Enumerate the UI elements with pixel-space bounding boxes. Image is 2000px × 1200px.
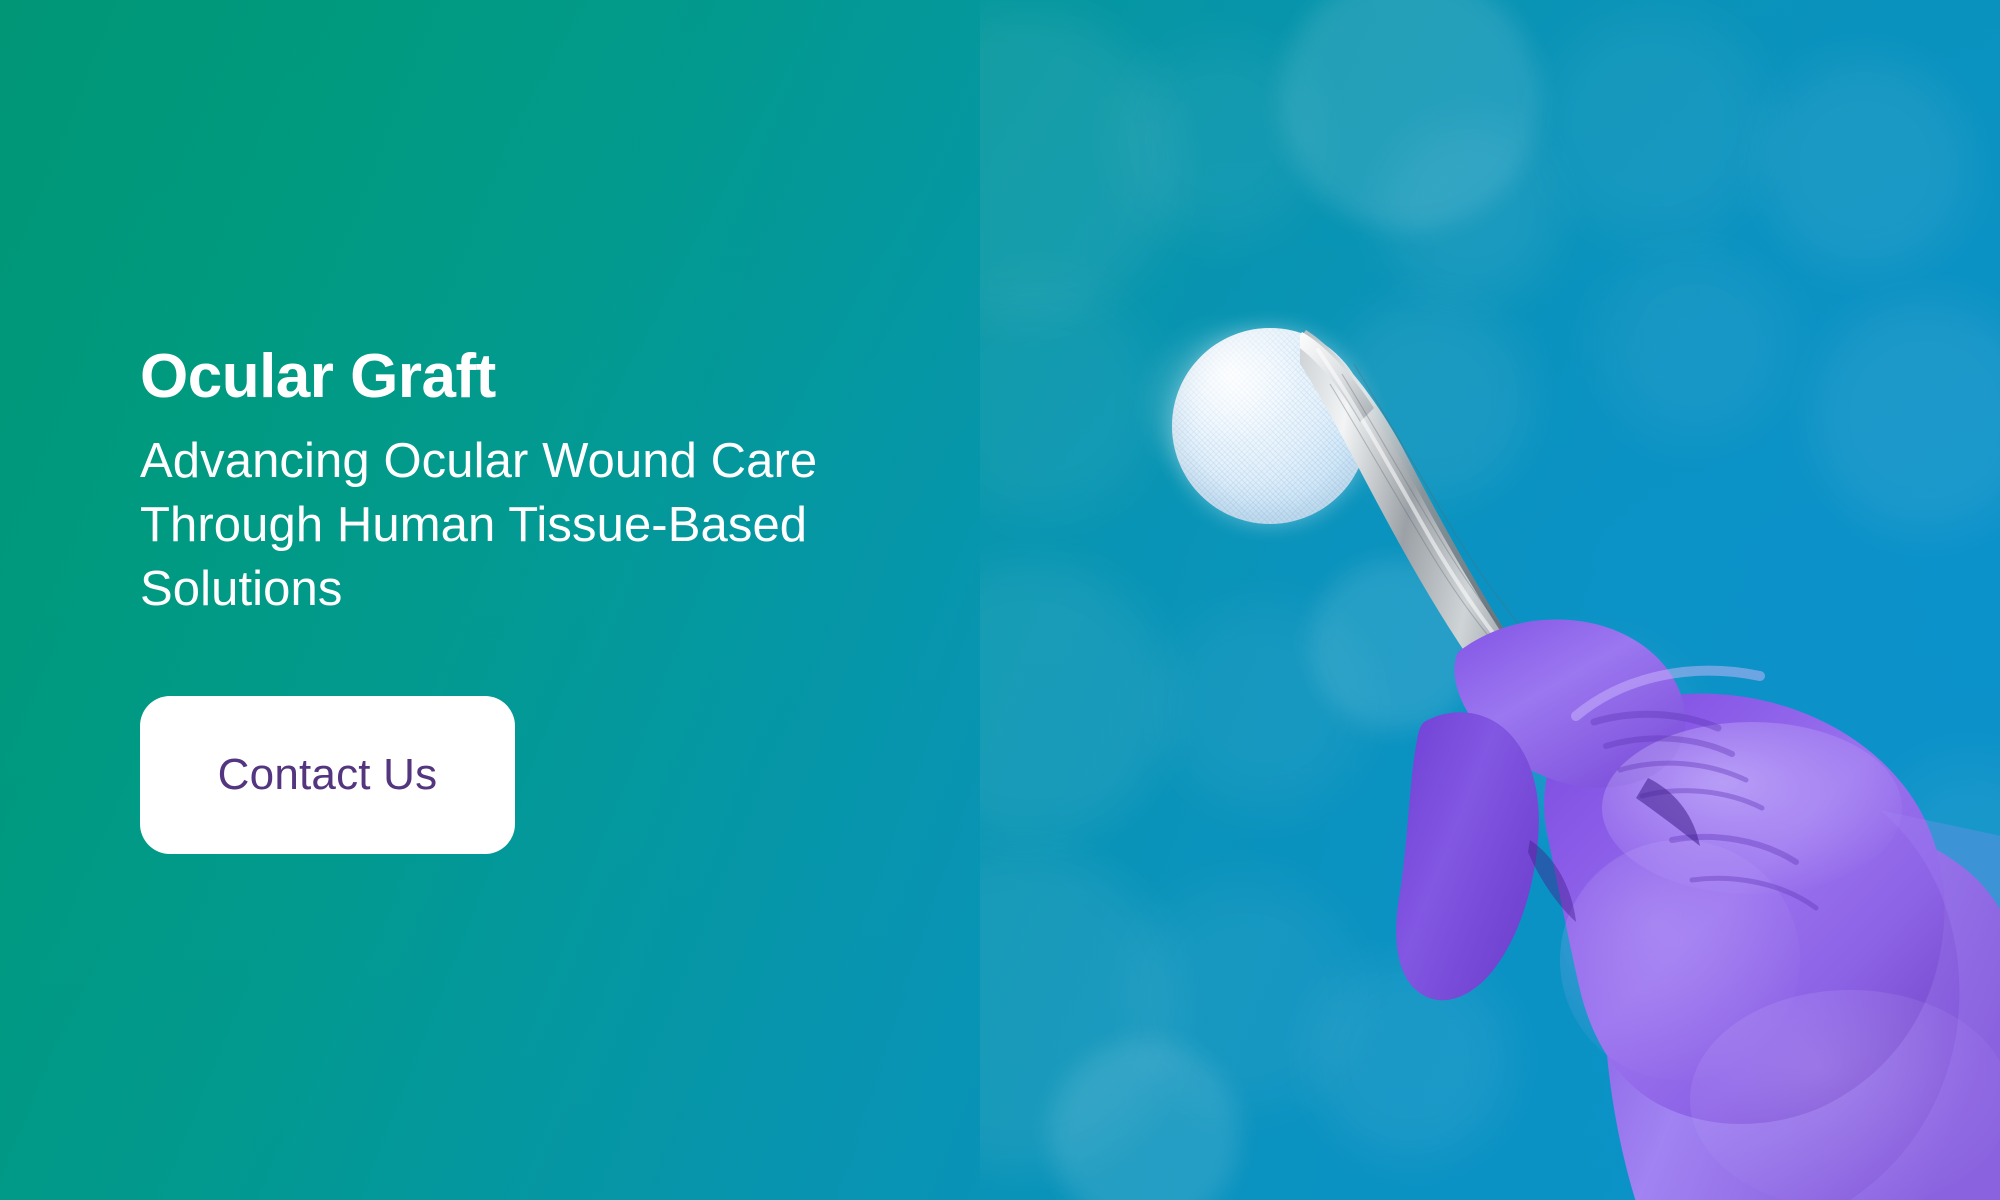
hero-subtitle-line: Solutions (140, 562, 342, 616)
hero-subtitle-line: Advancing Ocular Wound Care (140, 434, 817, 488)
bokeh-circle (1540, 10, 1770, 240)
bokeh-circle (1380, 120, 1560, 300)
bokeh-circle (1760, 60, 1970, 270)
contact-us-button[interactable]: Contact Us (140, 696, 515, 854)
hero-subtitle-line: Through Human Tissue-Based (140, 498, 807, 552)
hero-content: Ocular Graft Advancing Ocular Wound Care… (140, 0, 960, 1200)
page-title: Ocular Graft (140, 346, 960, 408)
hero-banner: Ocular Graft Advancing Ocular Wound Care… (0, 0, 2000, 1200)
hero-subtitle: Advancing Ocular Wound CareThrough Human… (140, 430, 840, 621)
gloved-hand (1380, 540, 2000, 1200)
bokeh-circle (980, 280, 1160, 520)
bokeh-circle (980, 560, 1170, 840)
cta-row: Contact Us (140, 696, 960, 854)
bokeh-circle (1810, 300, 2000, 530)
